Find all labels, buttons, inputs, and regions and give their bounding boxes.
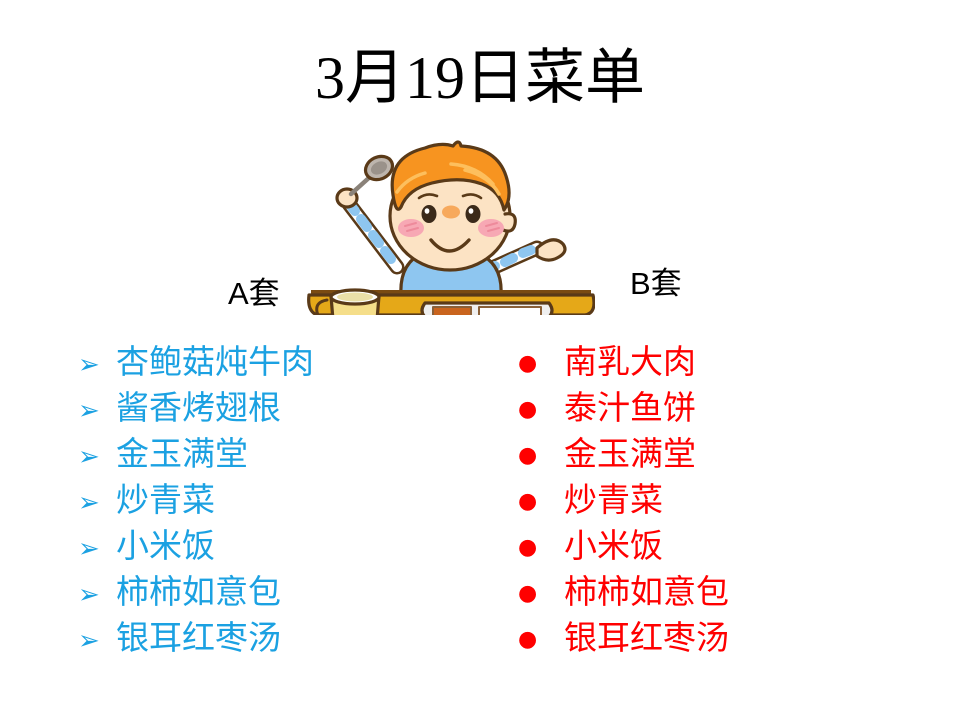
list-item-label: 杏鲍菇炖牛肉 (116, 340, 314, 386)
list-item: ● 泰汁鱼饼 (518, 386, 938, 432)
list-item-label: 南乳大肉 (564, 340, 696, 386)
menu-list-b: ● 南乳大肉 ● 泰汁鱼饼 ● 金玉满堂 ● 炒青菜 ● 小米饭 ● 柿柿如意包… (518, 340, 938, 662)
list-item: ● 炒青菜 (518, 478, 938, 524)
list-item: ➢ 金玉满堂 (78, 432, 478, 478)
arrow-bullet-icon: ➢ (78, 342, 116, 388)
disc-bullet-icon: ● (518, 387, 564, 433)
list-item: ➢ 银耳红枣汤 (78, 616, 478, 662)
list-item-label: 金玉满堂 (116, 432, 248, 478)
list-item: ➢ 柿柿如意包 (78, 570, 478, 616)
list-item-label: 酱香烤翅根 (116, 386, 281, 432)
disc-bullet-icon: ● (518, 571, 564, 617)
page-title: 3月19日菜单 (0, 48, 960, 108)
list-item-label: 银耳红枣汤 (564, 616, 729, 662)
arrow-bullet-icon: ➢ (78, 526, 116, 572)
disc-bullet-icon: ● (518, 341, 564, 387)
list-item-label: 炒青菜 (564, 478, 663, 524)
list-item-label: 泰汁鱼饼 (564, 386, 696, 432)
list-item: ● 银耳红枣汤 (518, 616, 938, 662)
list-item: ● 南乳大肉 (518, 340, 938, 386)
list-item: ➢ 酱香烤翅根 (78, 386, 478, 432)
disc-bullet-icon: ● (518, 525, 564, 571)
column-header-a: A套 (228, 278, 280, 311)
column-header-b: B套 (630, 268, 682, 301)
disc-bullet-icon: ● (518, 433, 564, 479)
disc-bullet-icon: ● (518, 479, 564, 525)
list-item-label: 柿柿如意包 (564, 570, 729, 616)
child-eating-illustration (305, 140, 595, 315)
arrow-bullet-icon: ➢ (78, 480, 116, 526)
arrow-bullet-icon: ➢ (78, 434, 116, 480)
list-item: ● 金玉满堂 (518, 432, 938, 478)
list-item-label: 柿柿如意包 (116, 570, 281, 616)
list-item-label: 银耳红枣汤 (116, 616, 281, 662)
list-item: ➢ 杏鲍菇炖牛肉 (78, 340, 478, 386)
list-item-label: 小米饭 (116, 524, 215, 570)
list-item: ● 柿柿如意包 (518, 570, 938, 616)
list-item-label: 金玉满堂 (564, 432, 696, 478)
arrow-bullet-icon: ➢ (78, 388, 116, 434)
list-item: ➢ 小米饭 (78, 524, 478, 570)
arrow-bullet-icon: ➢ (78, 572, 116, 618)
list-item: ➢ 炒青菜 (78, 478, 478, 524)
list-item-label: 小米饭 (564, 524, 663, 570)
list-item-label: 炒青菜 (116, 478, 215, 524)
disc-bullet-icon: ● (518, 617, 564, 663)
list-item: ● 小米饭 (518, 524, 938, 570)
left-arm (337, 152, 397, 267)
menu-list-a: ➢ 杏鲍菇炖牛肉 ➢ 酱香烤翅根 ➢ 金玉满堂 ➢ 炒青菜 ➢ 小米饭 ➢ 柿柿… (78, 340, 478, 662)
arrow-bullet-icon: ➢ (78, 618, 116, 664)
menu-slide: 3月19日菜单 (0, 0, 960, 720)
